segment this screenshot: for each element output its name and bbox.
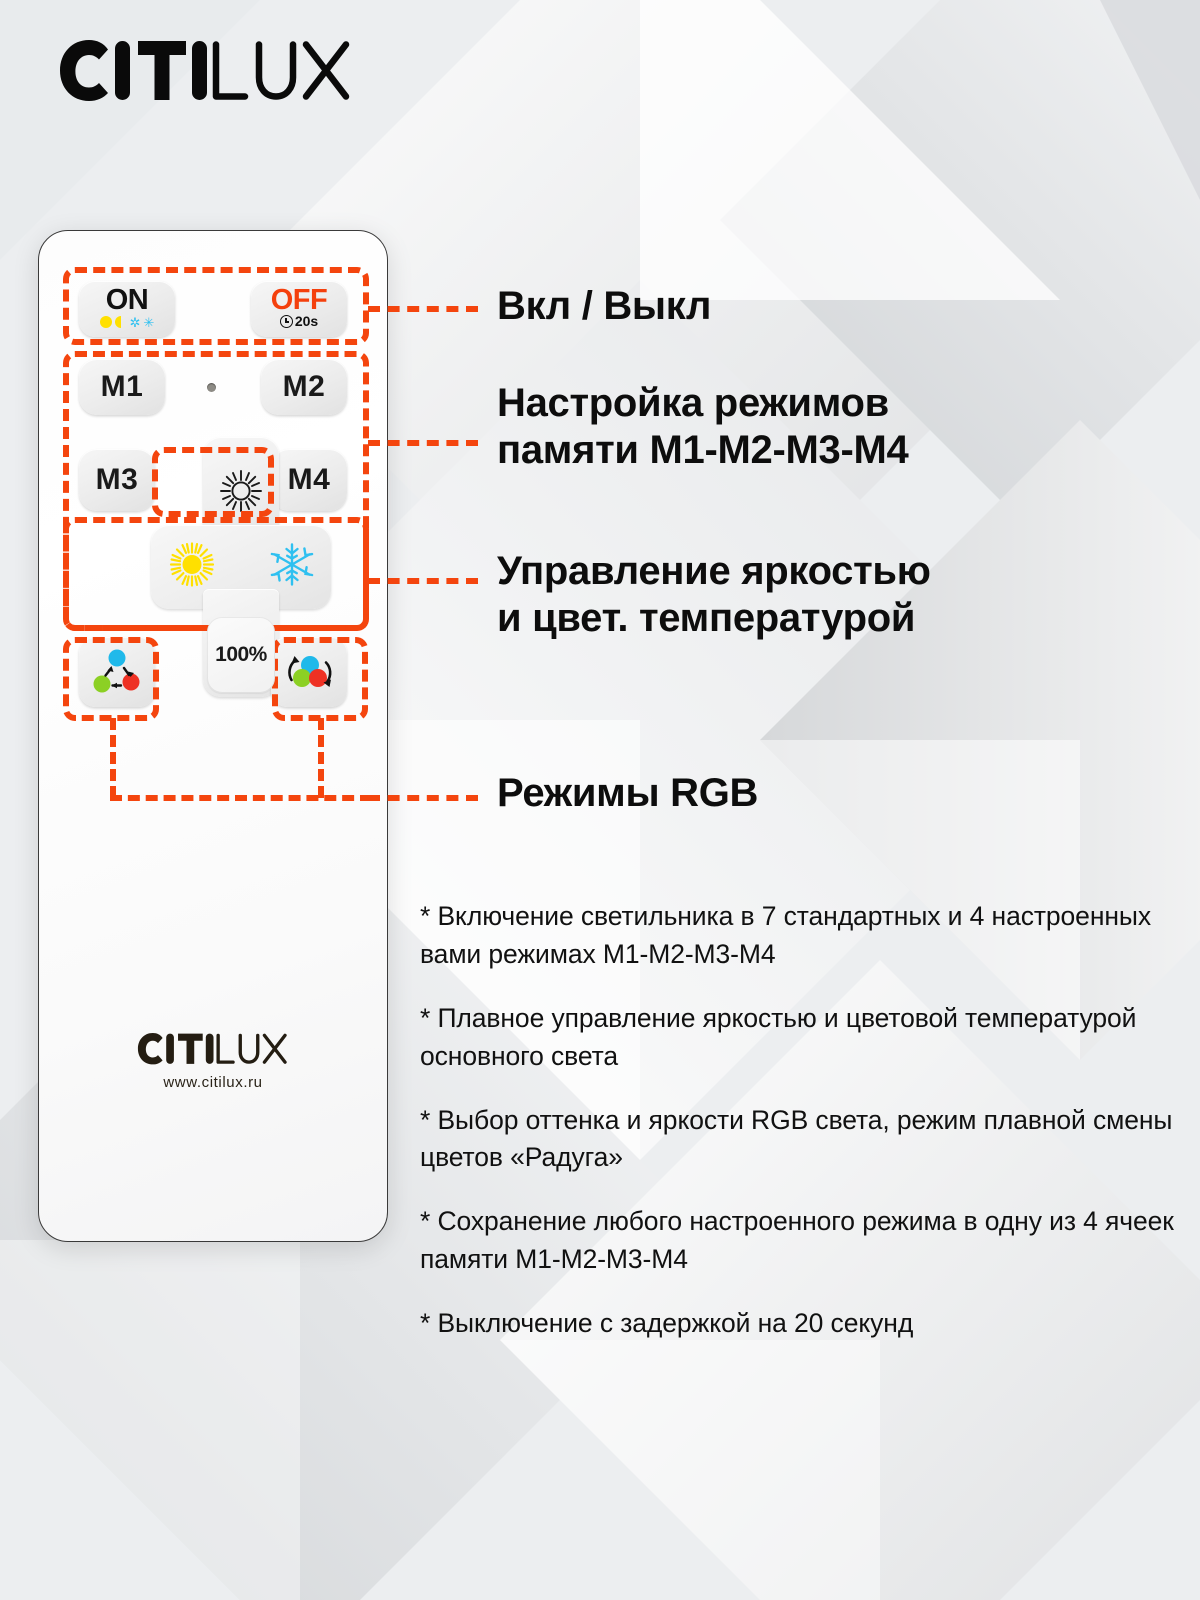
highlight-box-rgb-right [272,637,368,721]
feature-item: * Выключение с задержкой на 20 секунд [420,1305,1175,1343]
citilux-logo-svg [56,36,356,106]
callout-memory-line1: Настройка режимов [497,380,908,427]
callout-brightness-line1: Управление яркостью [497,548,931,595]
remote-website-label: www.citilux.ru [39,1074,387,1091]
callout-label-brightness: Управление яркостью и цвет. температурой [497,548,931,642]
callout-power-line1: Вкл / Выкл [497,283,711,330]
brightness-value-label: 100% [215,643,267,667]
feature-item: * Выбор оттенка и яркости RGB света, реж… [420,1102,1175,1178]
highlight-box-brightness [63,517,369,631]
highlight-box-rgb-left [63,637,159,721]
leader-line-rgb-join [110,795,372,801]
callout-memory-line2: памяти M1-M2-M3-M4 [497,427,908,474]
remote-brand-logo: www.citilux.ru [39,1031,387,1091]
remote-citilux-logo-svg [127,1031,299,1067]
leader-line-power [368,306,478,312]
brand-logo [56,36,356,106]
leader-line-rgb-left [110,718,116,798]
feature-item: * Сохранение любого настроенного режима … [420,1203,1175,1279]
full-brightness-button[interactable]: 100% [207,617,275,693]
callout-brightness-line2: и цвет. температурой [497,595,931,642]
leader-line-rgb [368,795,478,801]
feature-item: * Плавное управление яркостью и цветовой… [420,1000,1175,1076]
feature-item: * Включение светильника в 7 стандартных … [420,898,1175,974]
leader-line-memory [368,440,478,446]
callout-rgb-line1: Режимы RGB [497,770,758,817]
callout-label-power: Вкл / Выкл [497,283,711,330]
feature-list: * Включение светильника в 7 стандартных … [420,898,1175,1369]
callout-label-memory: Настройка режимов памяти M1-M2-M3-M4 [497,380,908,474]
highlight-box-brightness-up [152,447,274,517]
callout-label-rgb: Режимы RGB [497,770,758,817]
leader-line-rgb-right [318,718,324,798]
leader-line-brightness [368,578,478,584]
highlight-box-power [63,267,369,345]
